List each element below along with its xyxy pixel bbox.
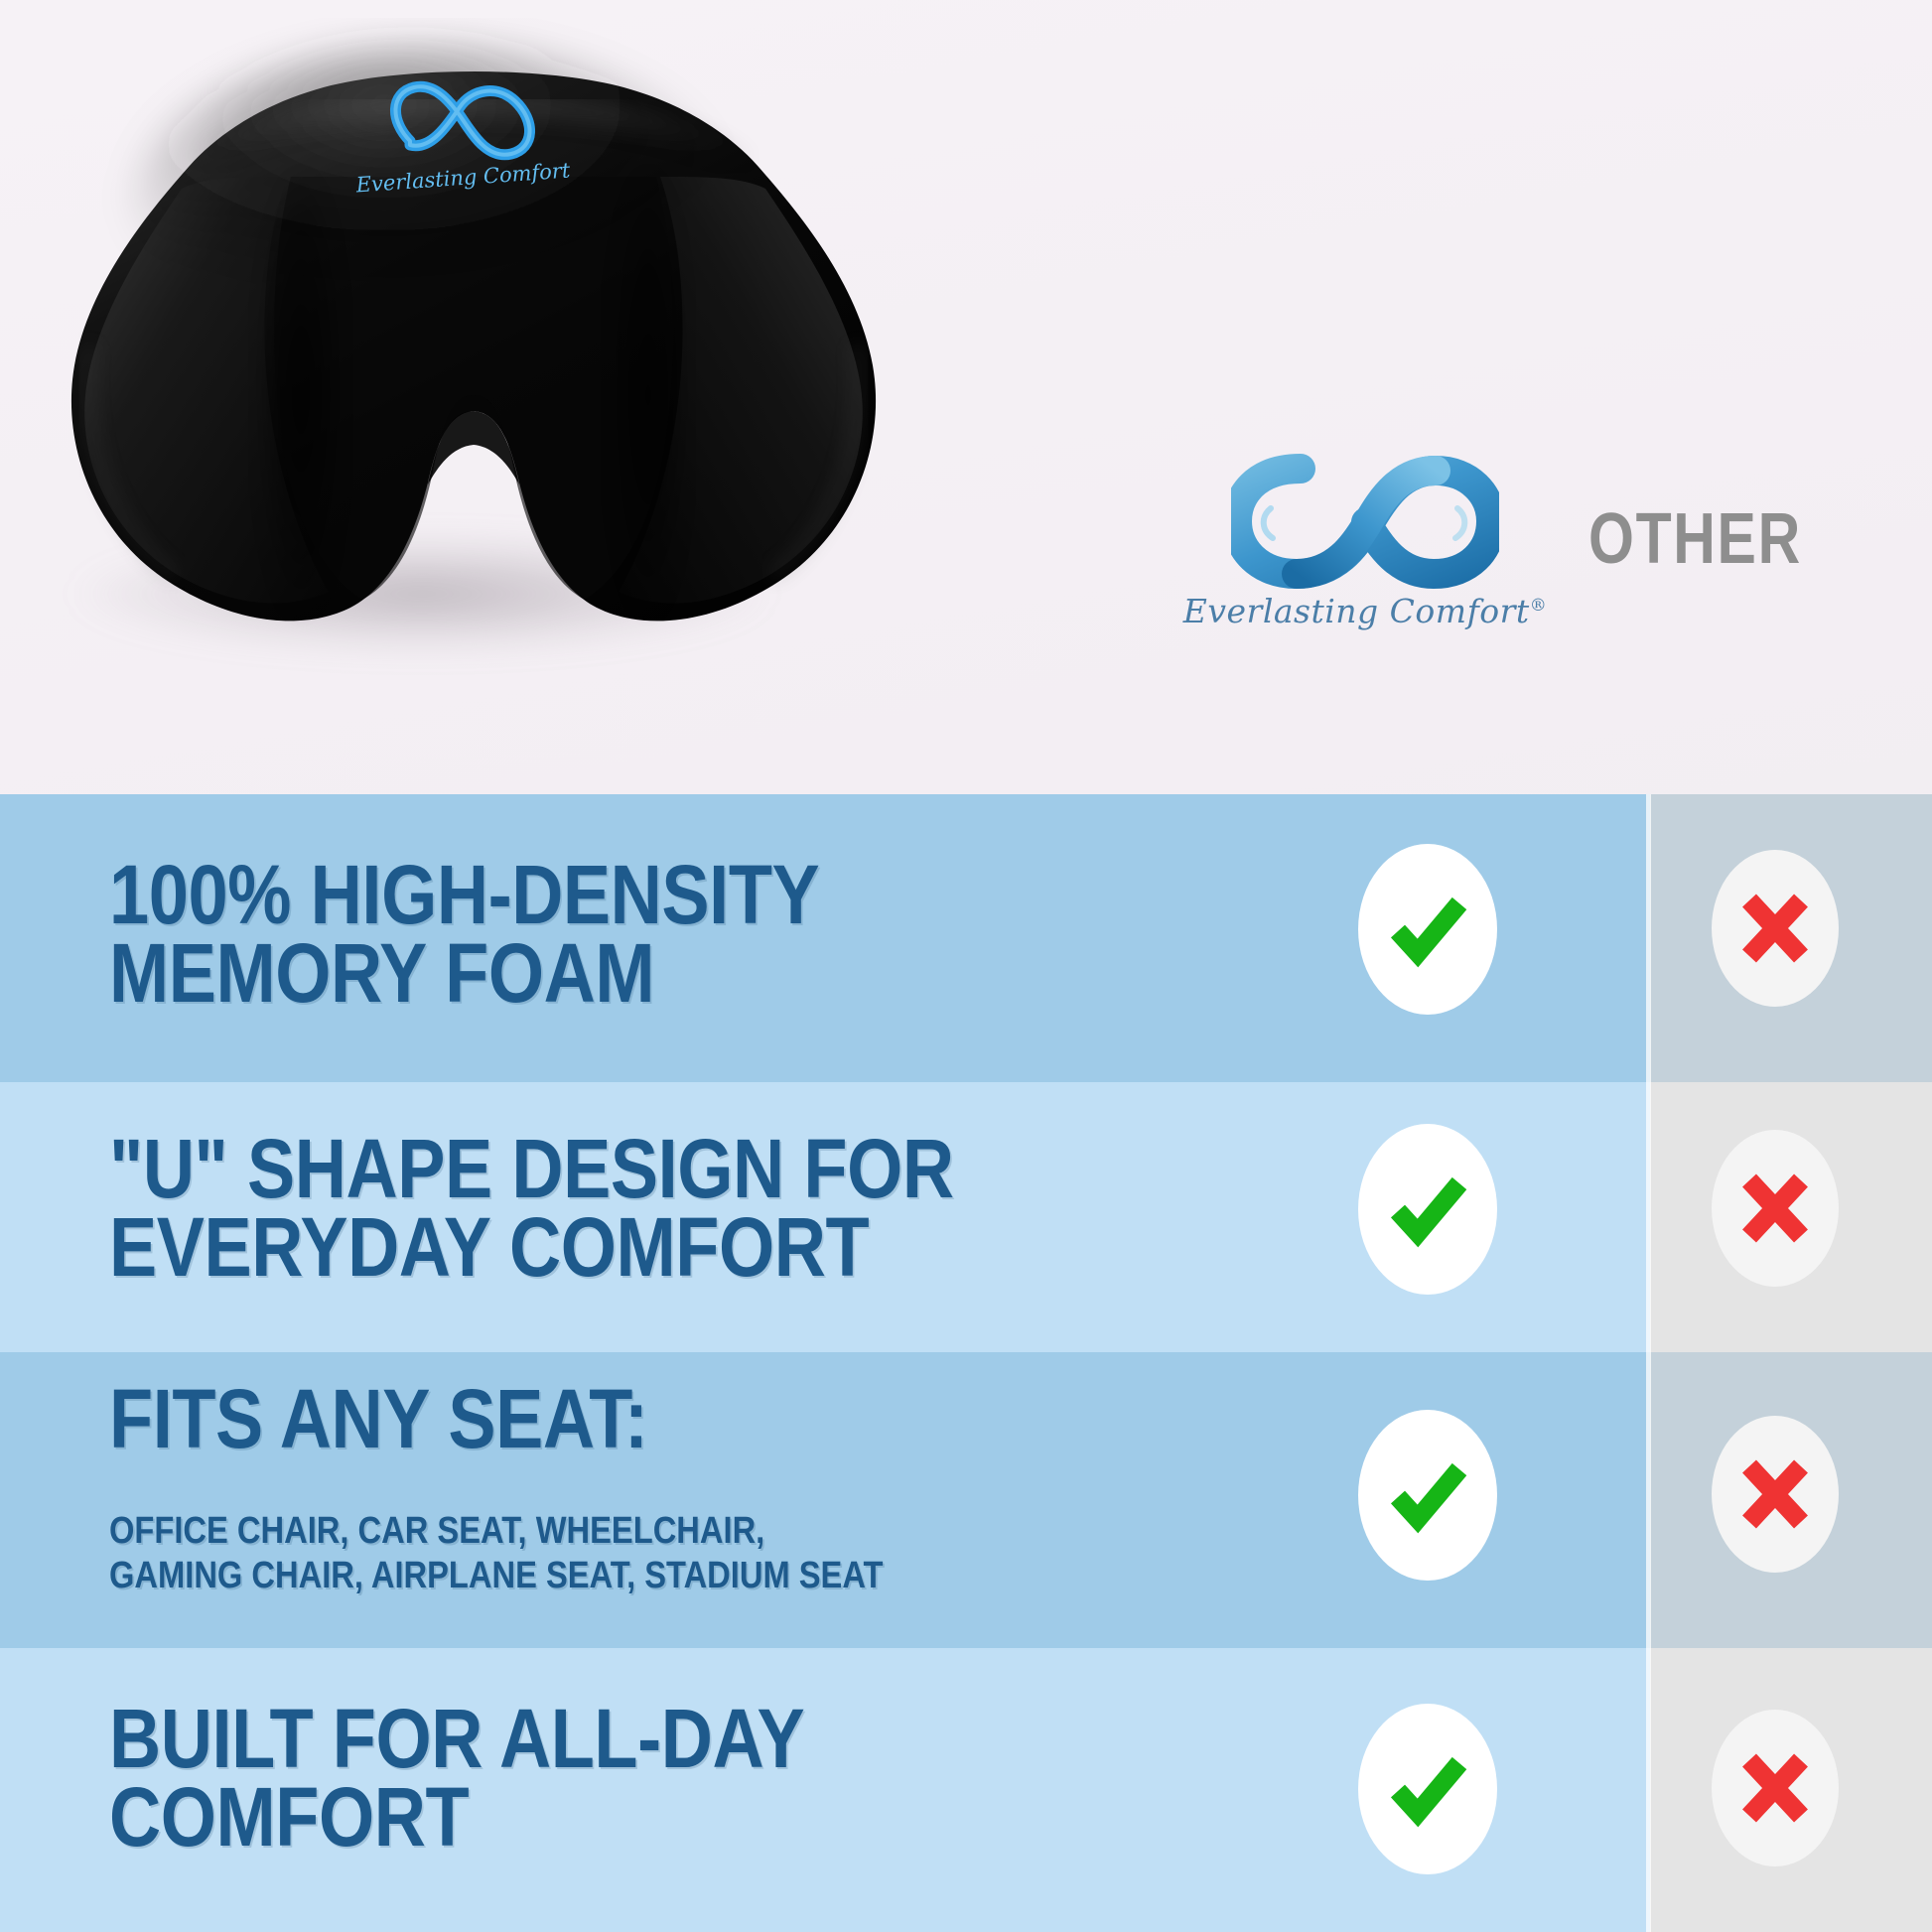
ours-cell bbox=[1277, 1648, 1650, 1932]
table-row: "U" SHAPE DESIGN FOR EVERYDAY COMFORT bbox=[0, 1082, 1932, 1352]
table-row: FITS ANY SEAT: OFFICE CHAIR, CAR SEAT, W… bbox=[0, 1352, 1932, 1648]
feature-subtitle: OFFICE CHAIR, CAR SEAT, WHEELCHAIR, GAMI… bbox=[109, 1509, 883, 1598]
brand-header: Everlasting Comfort® OTHER bbox=[1172, 437, 1932, 794]
feature-cell: FITS ANY SEAT: OFFICE CHAIR, CAR SEAT, W… bbox=[0, 1352, 1277, 1648]
feature-title: BUILT FOR ALL-DAY COMFORT bbox=[109, 1700, 804, 1857]
brand-wordmark: Everlasting Comfort® bbox=[1172, 592, 1559, 630]
other-column-label: OTHER bbox=[1588, 498, 1833, 580]
feature-cell: BUILT FOR ALL-DAY COMFORT bbox=[0, 1648, 1277, 1932]
check-icon bbox=[1358, 844, 1497, 1015]
feature-cell: "U" SHAPE DESIGN FOR EVERYDAY COMFORT bbox=[0, 1082, 1277, 1352]
other-cell bbox=[1650, 1082, 1932, 1352]
feature-title: 100% HIGH-DENSITY MEMORY FOAM bbox=[109, 856, 819, 1013]
check-icon bbox=[1358, 1124, 1497, 1295]
cross-icon bbox=[1712, 1416, 1839, 1573]
product-hero: Everlasting Comfort bbox=[0, 0, 1932, 794]
cross-icon bbox=[1712, 1130, 1839, 1287]
other-cell bbox=[1650, 794, 1932, 1082]
cross-icon bbox=[1712, 850, 1839, 1007]
feature-title: FITS ANY SEAT: bbox=[109, 1380, 648, 1458]
infinity-icon bbox=[1231, 447, 1499, 596]
column-divider bbox=[1646, 1352, 1651, 1648]
registered-mark: ® bbox=[1530, 596, 1548, 616]
feature-title: "U" SHAPE DESIGN FOR EVERYDAY COMFORT bbox=[109, 1130, 954, 1287]
product-image: Everlasting Comfort bbox=[35, 18, 908, 653]
feature-cell: 100% HIGH-DENSITY MEMORY FOAM bbox=[0, 794, 1277, 1082]
other-cell bbox=[1650, 1352, 1932, 1648]
cross-icon bbox=[1712, 1710, 1839, 1866]
table-row: BUILT FOR ALL-DAY COMFORT bbox=[0, 1648, 1932, 1932]
seat-cushion-illustration: Everlasting Comfort bbox=[35, 18, 908, 653]
other-cell bbox=[1650, 1648, 1932, 1932]
column-divider bbox=[1646, 1648, 1651, 1932]
column-divider bbox=[1646, 794, 1651, 1082]
check-icon bbox=[1358, 1704, 1497, 1874]
cushion-groove-right bbox=[609, 167, 688, 623]
ours-cell bbox=[1277, 1352, 1650, 1648]
everlasting-comfort-logo: Everlasting Comfort® bbox=[1172, 447, 1559, 675]
brand-wordmark-text: Everlasting Comfort bbox=[1183, 592, 1530, 630]
ours-cell bbox=[1277, 1082, 1650, 1352]
cushion-groove-left bbox=[257, 167, 345, 623]
infographic-page: Everlasting Comfort bbox=[0, 0, 1932, 1932]
comparison-table: 100% HIGH-DENSITY MEMORY FOAM "U" SHAPE … bbox=[0, 794, 1932, 1932]
ours-cell bbox=[1277, 794, 1650, 1082]
table-row: 100% HIGH-DENSITY MEMORY FOAM bbox=[0, 794, 1932, 1082]
column-divider bbox=[1646, 1082, 1651, 1352]
check-icon bbox=[1358, 1410, 1497, 1581]
